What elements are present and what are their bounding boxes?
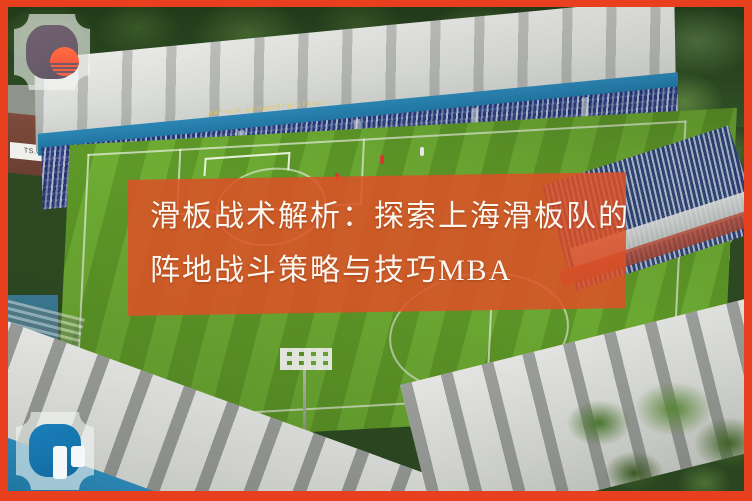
poster-frame: TS.COM ARTHUR ASHWORTH STAND: [0, 0, 752, 501]
title-banner: 滑板战术解析：探索上海滑板队的 阵地战斗策略与技巧MBA: [128, 172, 626, 316]
player-marker: [420, 147, 424, 156]
trello-card-right-icon: [71, 446, 85, 467]
title-line-1: 滑板战术解析：探索上海滑板队的: [150, 190, 626, 244]
player-marker: [380, 155, 384, 164]
floodlight-lamps: [280, 348, 332, 370]
floodlight-pole: [303, 365, 306, 431]
sun-glyph-icon: [50, 47, 79, 76]
tree-cluster-bottom-right: [554, 373, 744, 491]
trello-card-left-icon: [53, 446, 67, 479]
title-line-2: 阵地战斗策略与技巧MBA: [150, 244, 626, 298]
icon-squircle-body: [26, 25, 78, 79]
icon-squircle-body: [29, 424, 81, 477]
trello-app-icon[interactable]: [16, 412, 94, 490]
sunset-app-icon[interactable]: [14, 14, 90, 90]
